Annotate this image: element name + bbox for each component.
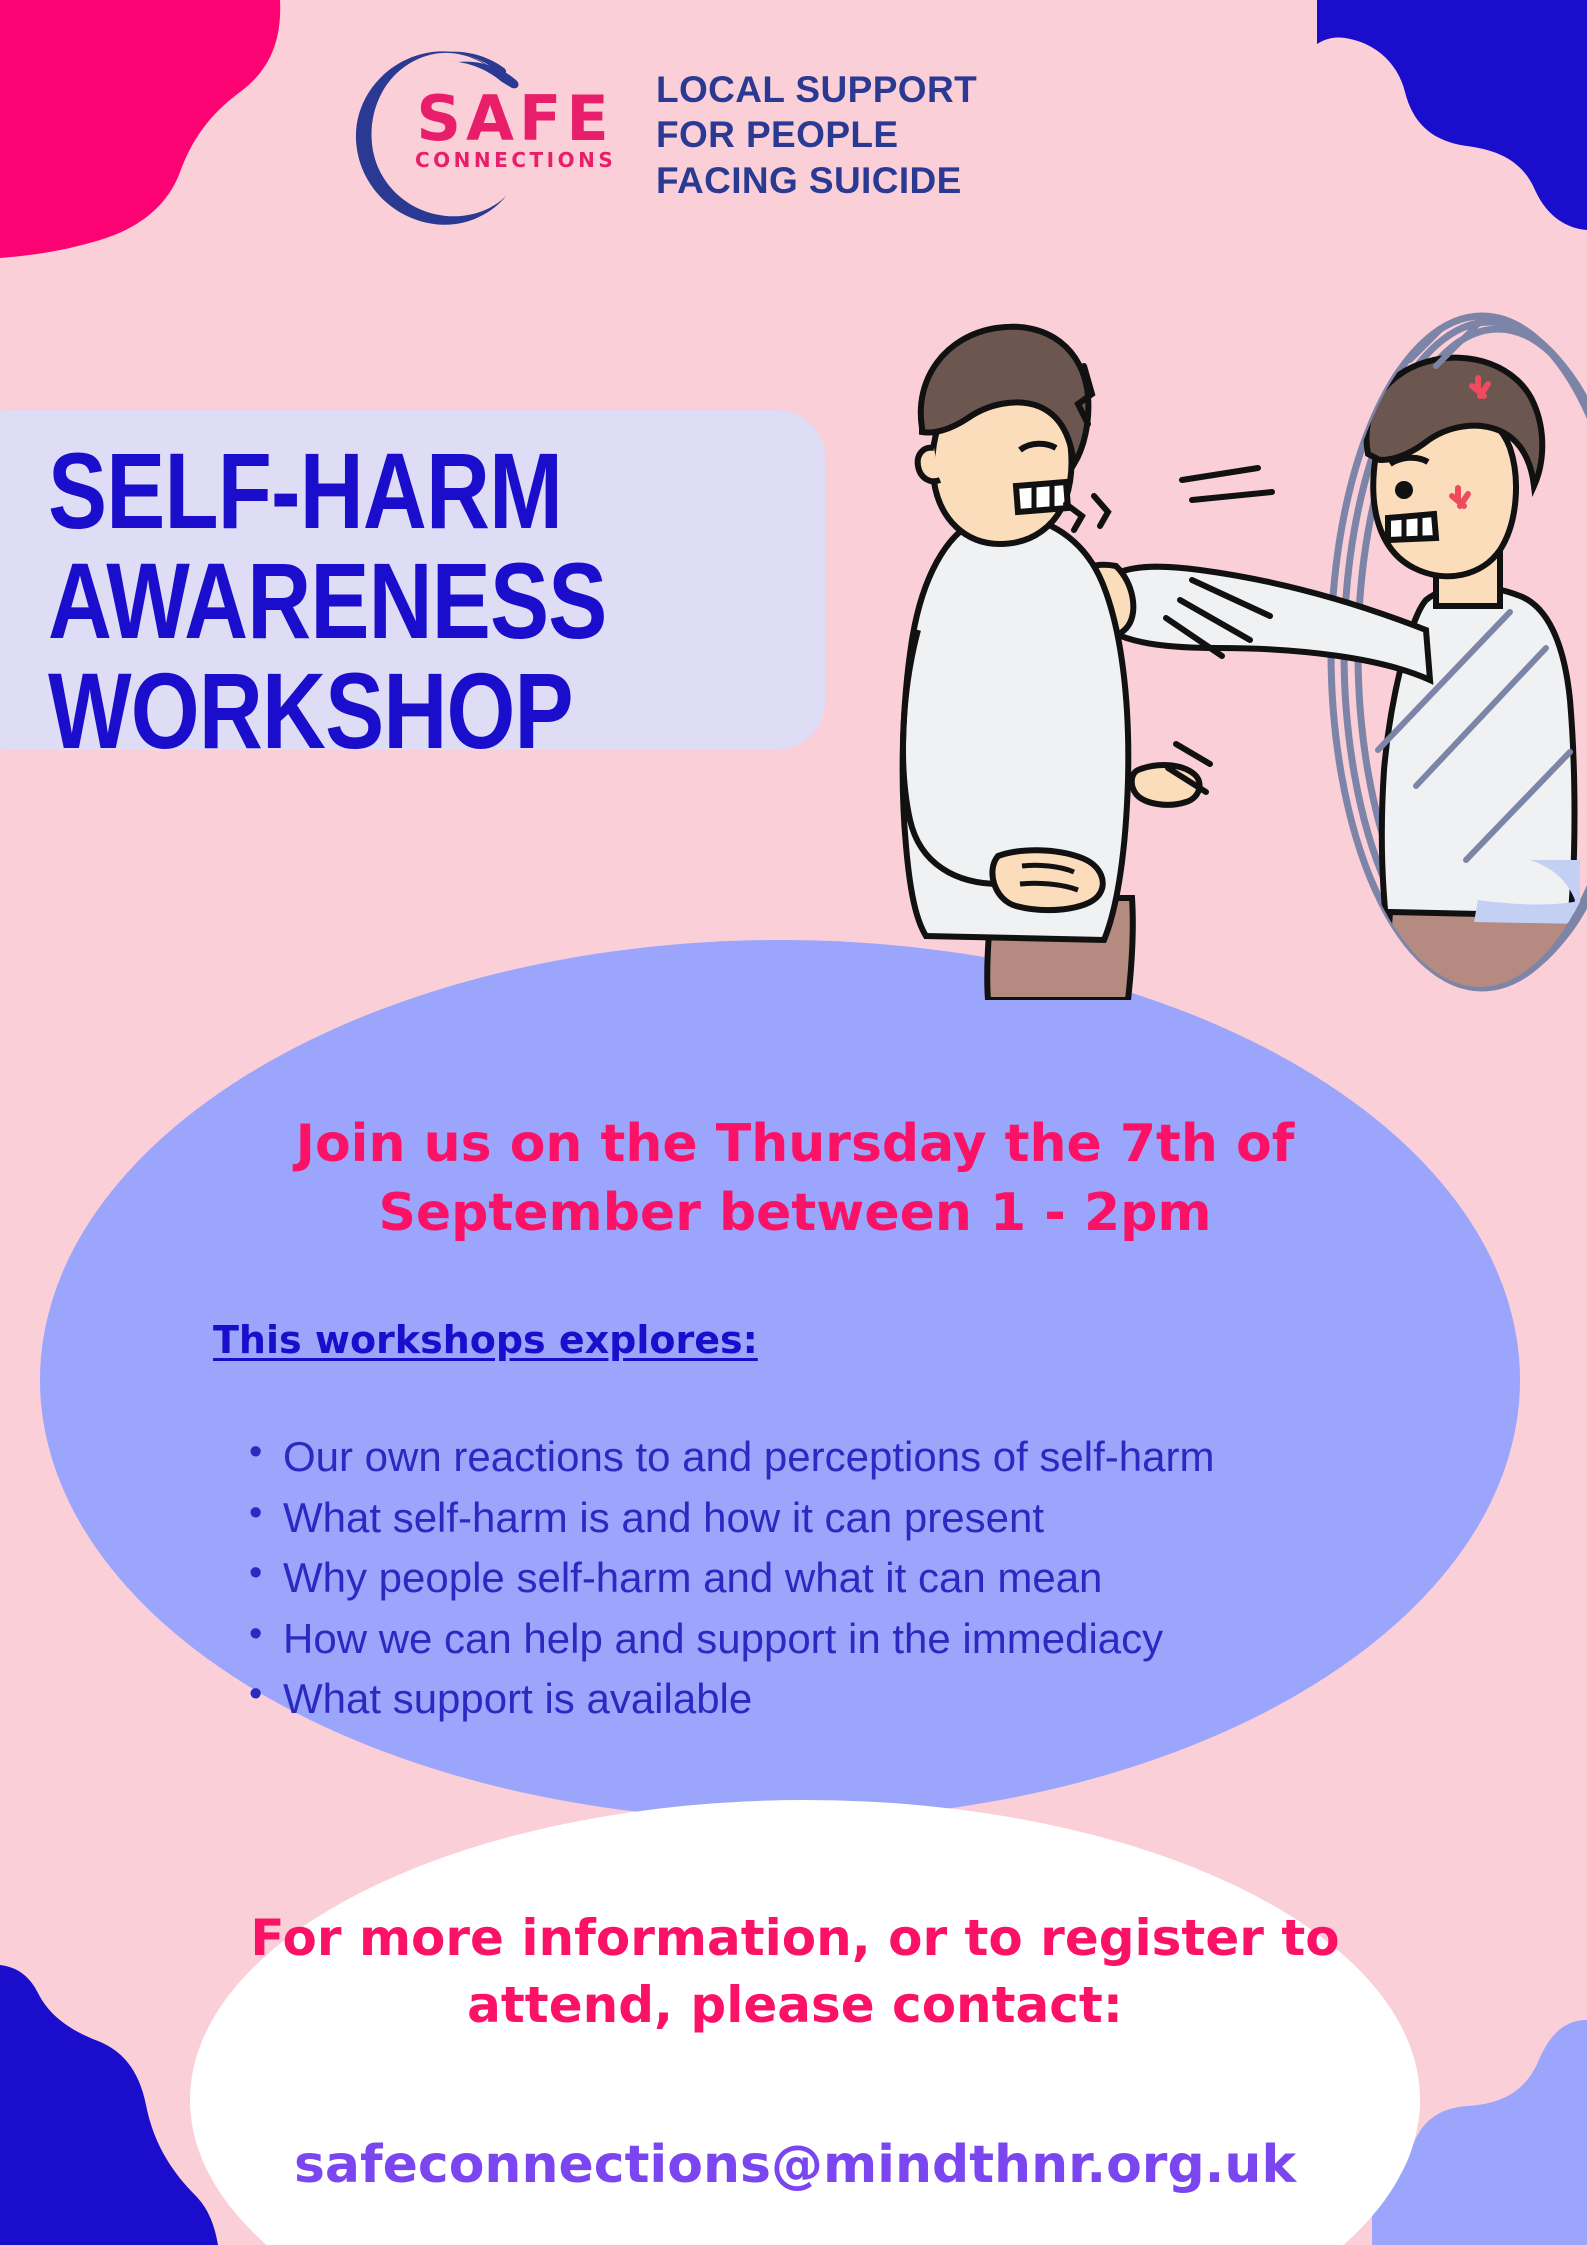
page-title: SELF-HARM AWARENESS WORKSHOP	[48, 436, 685, 766]
list-item: Why people self-harm and what it can mea…	[283, 1551, 1403, 1606]
decor-blob-bottom-left	[0, 1965, 220, 2245]
list-item: How we can help and support in the immed…	[283, 1612, 1403, 1667]
explores-heading: This workshops explores:	[213, 1318, 758, 1362]
contact-email[interactable]: safeconnections@mindthnr.org.uk	[200, 2135, 1390, 2195]
title-card: SELF-HARM AWARENESS WORKSHOP	[0, 410, 825, 750]
figure-hands	[992, 850, 1102, 910]
event-date-line: Join us on the Thursday the 7th of Septe…	[150, 1110, 1440, 1247]
decor-blob-top-right	[1317, 0, 1587, 230]
logo-wordmark: SAFE CONNECTIONS	[415, 90, 615, 171]
poster-canvas: SAFE CONNECTIONS LOCAL SUPPORT FOR PEOPL…	[0, 0, 1587, 2245]
workshop-topics-list: Our own reactions to and perceptions of …	[235, 1430, 1403, 1733]
list-item: What support is available	[283, 1672, 1403, 1727]
list-item: Our own reactions to and perceptions of …	[283, 1430, 1403, 1485]
logo-brand-secondary: CONNECTIONS	[415, 149, 615, 171]
contact-heading: For more information, or to register to …	[200, 1905, 1390, 2039]
logo-tagline: LOCAL SUPPORT FOR PEOPLE FACING SUICIDE	[656, 67, 977, 202]
punching-arm	[1108, 567, 1430, 680]
logo-brand-primary: SAFE	[415, 90, 615, 149]
safe-connections-logo: SAFE CONNECTIONS LOCAL SUPPORT FOR PEOPL…	[350, 40, 1250, 230]
logo-ring-icon: SAFE CONNECTIONS	[350, 40, 560, 230]
decor-blob-top-left	[0, 0, 310, 260]
self-harm-mirror-illustration	[870, 300, 1587, 1000]
list-item: What self-harm is and how it can present	[283, 1491, 1403, 1546]
